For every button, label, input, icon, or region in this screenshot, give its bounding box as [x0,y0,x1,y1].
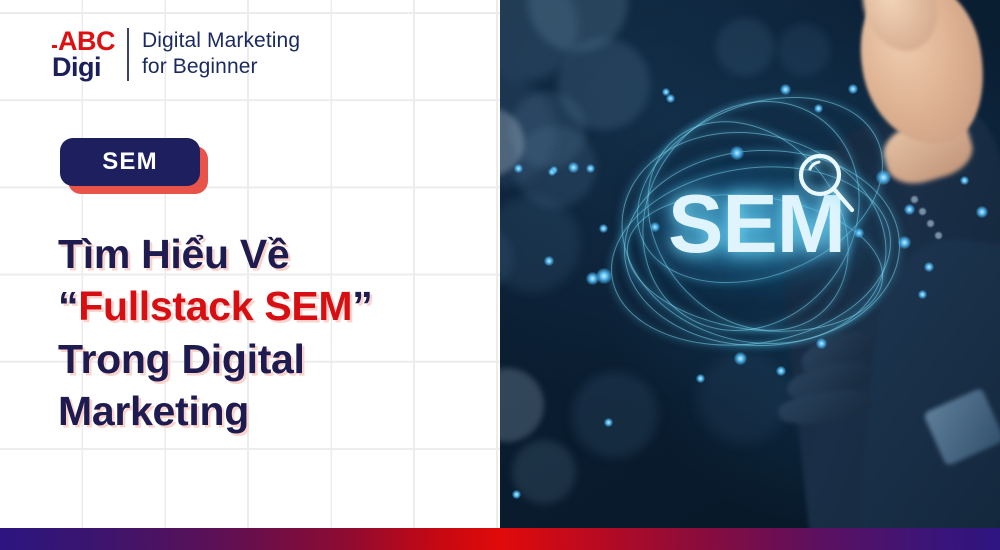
suit-button [935,232,942,239]
glow-dot [548,168,556,176]
bokeh-circle [572,372,658,458]
bokeh-circle [716,18,774,76]
glow-dot [586,164,595,173]
glow-dot [976,206,988,218]
logo-divider [127,28,129,81]
glow-dot [898,236,911,249]
left-text-panel: ABC Digi Digital Marketing for Beginner … [0,0,500,528]
glow-dot [780,84,791,95]
glow-dot [514,164,523,173]
headline-highlight: Fullstack SEM [78,283,352,329]
glow-dot [816,338,827,349]
glow-dot [960,176,969,185]
footer-gradient-bar [0,528,1000,550]
glow-dot [696,374,705,383]
headline-line-4: Marketing [58,385,488,437]
glow-dot [568,162,579,173]
bokeh-circle [500,196,580,292]
logo-tagline-line2: for Beginner [142,54,300,80]
headline-line-1: Tìm Hiểu Về [58,228,488,280]
suit-button [919,208,926,215]
magnifier-icon [794,150,860,227]
glow-dot [904,204,915,215]
glow-dot [918,290,927,299]
glow-dot [876,170,891,185]
badge-label: SEM [102,148,158,176]
glow-dot [604,418,613,427]
glow-dot [924,262,934,272]
bokeh-circle [778,24,830,76]
quote-close: ” [352,283,372,329]
bokeh-circle [500,368,544,442]
glow-dot [730,146,744,160]
glow-dot [662,88,670,96]
badge-body: SEM [60,138,200,186]
logo-tagline: Digital Marketing for Beginner [142,28,300,81]
page-title: Tìm Hiểu Về “Fullstack SEM” Trong Digita… [58,228,488,438]
hero-photo-panel: SEM [500,0,1000,528]
glow-dot [599,224,608,233]
logo-digi-text: Digi [52,54,115,80]
bokeh-circle [698,352,790,444]
glow-dot [776,366,786,376]
bokeh-circle [512,440,576,504]
logo-tagline-line1: Digital Marketing [142,28,300,54]
suit-button [927,220,934,227]
headline-line-2: “Fullstack SEM” [58,280,488,332]
glow-dot [544,256,554,266]
sem-category-badge: SEM [60,138,208,194]
logo-abc-text: ABC [52,28,115,54]
glow-dot [734,352,747,365]
logo-wordmark: ABC Digi [52,28,127,81]
glow-dot [814,104,823,113]
quote-open: “ [58,283,78,329]
glow-dot [848,84,858,94]
glow-dot [512,490,521,499]
brand-logo[interactable]: ABC Digi Digital Marketing for Beginner [52,28,300,81]
sem-banner: ABC Digi Digital Marketing for Beginner … [0,0,1000,550]
headline-line-3: Trong Digital [58,333,488,385]
suit-button [911,196,918,203]
glow-dot [854,228,864,238]
glow-dot [596,268,612,284]
